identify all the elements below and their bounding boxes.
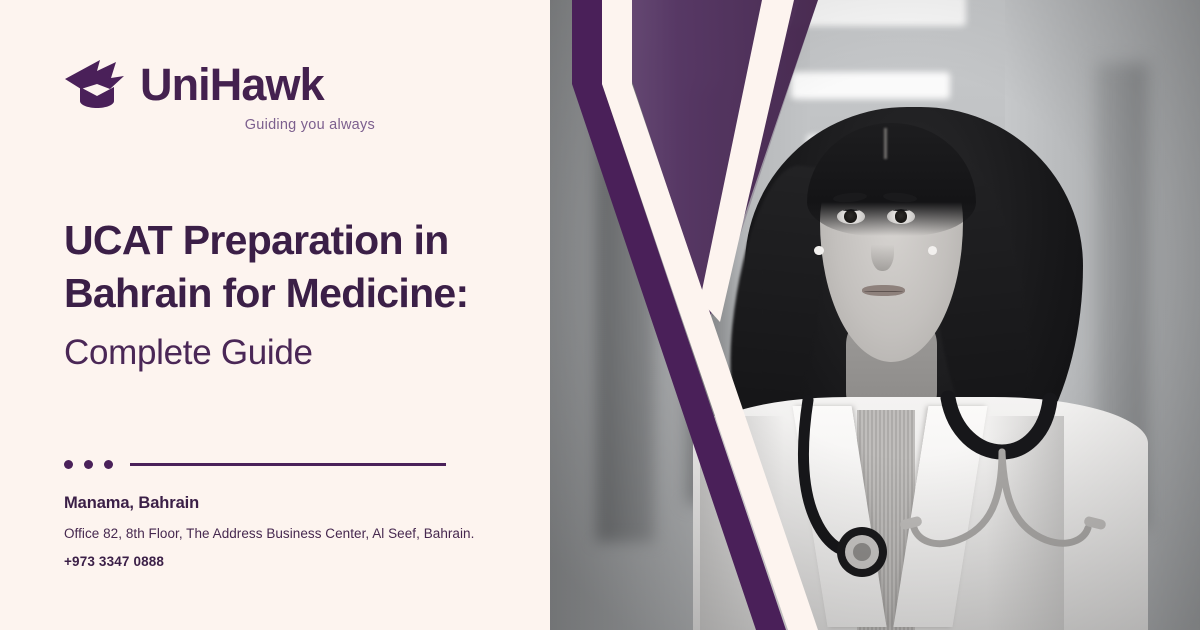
graduation-cap-arrow-icon [64, 58, 130, 110]
page-title-line-1: UCAT Preparation in [64, 214, 544, 267]
page-title-line-2: Bahrain for Medicine: [64, 267, 544, 320]
page-subtitle: Complete Guide [64, 331, 544, 375]
divider-dot-2 [84, 460, 93, 469]
banner: UniHawk Guiding you always UCAT Preparat… [0, 0, 1200, 630]
artwork-panel [550, 0, 1200, 630]
doctor-photo [550, 0, 1200, 630]
divider-dot-3 [104, 460, 113, 469]
content-panel: UniHawk Guiding you always UCAT Preparat… [0, 0, 560, 630]
contact-city: Manama, Bahrain [64, 494, 524, 513]
contact-address: Office 82, 8th Floor, The Address Busine… [64, 526, 524, 541]
divider-dot-1 [64, 460, 73, 469]
logo-wordmark: UniHawk [140, 62, 324, 107]
page-title: UCAT Preparation in Bahrain for Medicine… [64, 214, 544, 321]
divider [64, 460, 446, 469]
divider-rule [130, 463, 446, 466]
logo-tagline: Guiding you always [127, 117, 375, 133]
logo[interactable]: UniHawk Guiding you always [64, 58, 384, 133]
headline-block: UCAT Preparation in Bahrain for Medicine… [64, 214, 544, 374]
contact-phone[interactable]: +973 3347 0888 [64, 554, 524, 569]
contact-block: Manama, Bahrain Office 82, 8th Floor, Th… [64, 494, 524, 569]
photo-vignette [550, 0, 1200, 630]
